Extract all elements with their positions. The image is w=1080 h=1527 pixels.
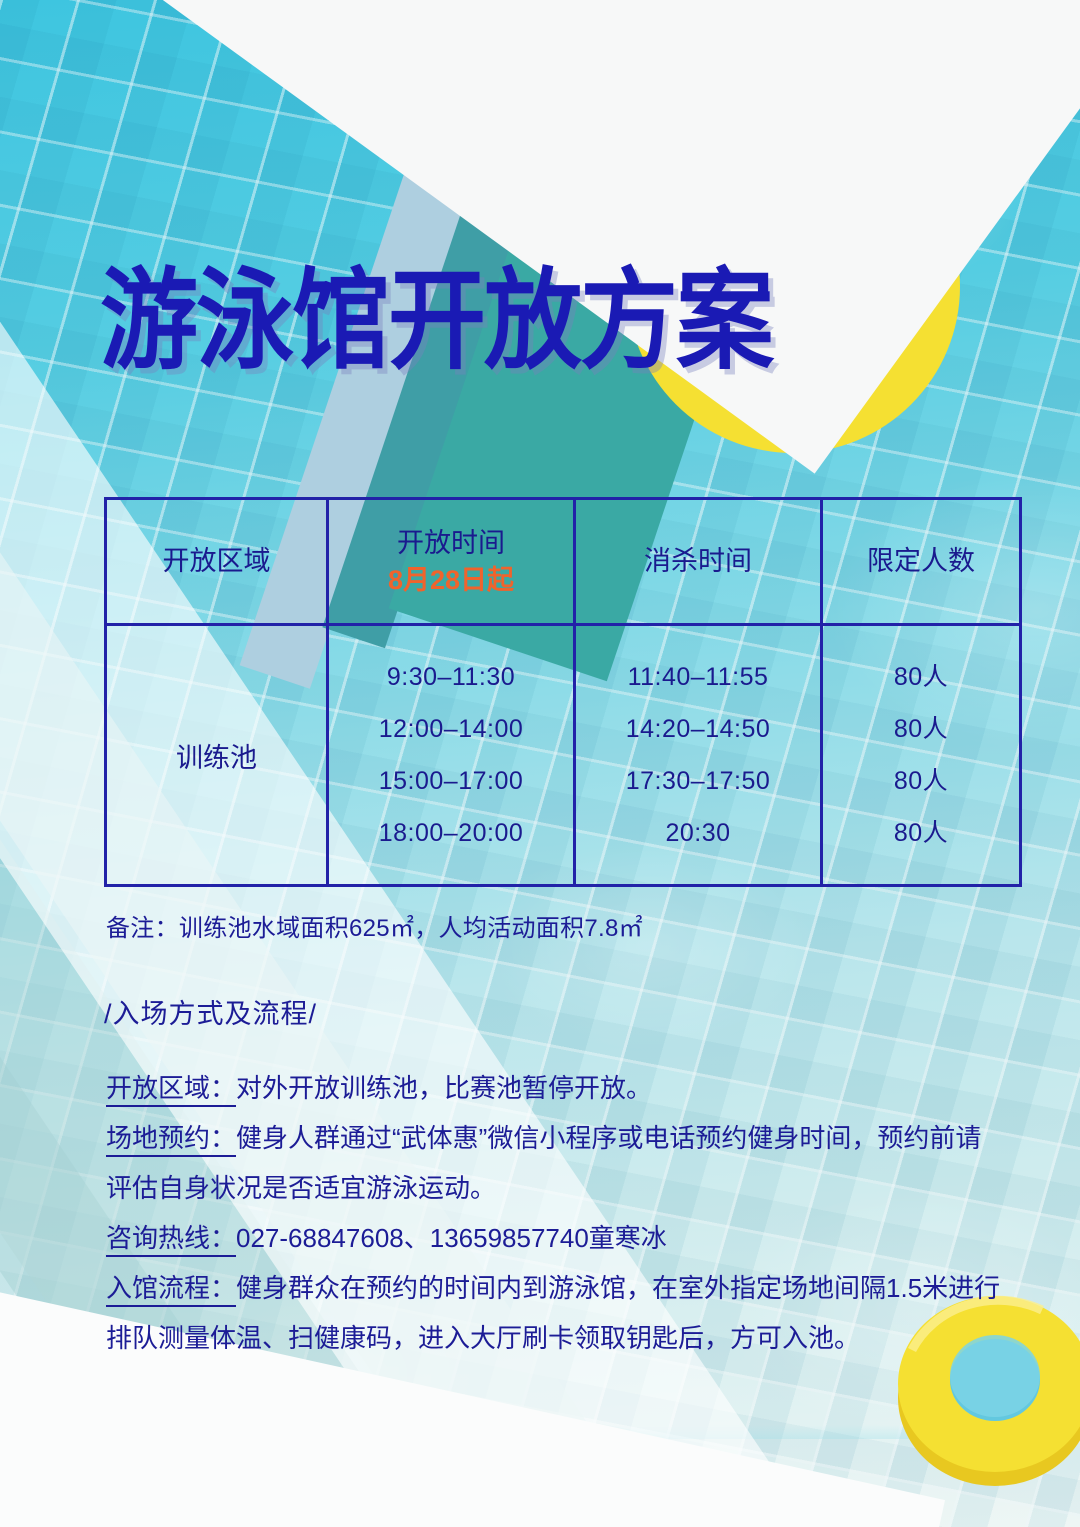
area-name-label: 训练池 <box>107 736 326 775</box>
info-item-open-area: 开放区域：对外开放训练池，比赛池暂停开放。 <box>106 1063 1006 1113</box>
cell-disinfect-times: 11:40–11:55 14:20–14:50 17:30–17:50 20:3… <box>575 625 822 886</box>
capacity-list: 80人 80人 80人 80人 <box>823 626 1019 884</box>
info-label-hotline: 咨询热线： <box>106 1223 236 1257</box>
info-item-hotline: 咨询热线：027-68847608、13659857740童寒冰 <box>106 1213 1006 1263</box>
open-time-slot: 12:00–14:00 <box>329 703 573 755</box>
capacity-value: 80人 <box>823 807 1019 859</box>
disinfect-time-slot: 17:30–17:50 <box>576 755 820 807</box>
open-time-slot: 9:30–11:30 <box>329 651 573 703</box>
info-label-open-area: 开放区域： <box>106 1073 236 1107</box>
info-label-booking: 场地预约： <box>106 1123 236 1157</box>
cell-open-times: 9:30–11:30 12:00–14:00 15:00–17:00 18:00… <box>328 625 575 886</box>
table-header-row: 开放区域 开放时间 8月28日起 消杀时间 限定人数 <box>106 499 1021 625</box>
disinfect-time-slot: 20:30 <box>576 807 820 859</box>
info-text-entry-process: 健身群众在预约的时间内到游泳馆，在室外指定场地间隔1.5米进行排队测量体温、扫健… <box>106 1273 1000 1353</box>
table-header-cell-capacity: 限定人数 <box>822 499 1021 625</box>
table-header-cell-open-time: 开放时间 8月28日起 <box>328 499 575 625</box>
disinfect-time-slot: 14:20–14:50 <box>576 703 820 755</box>
info-text-open-area: 对外开放训练池，比赛池暂停开放。 <box>236 1073 652 1103</box>
header-label-capacity: 限定人数 <box>823 543 1019 579</box>
capacity-value: 80人 <box>823 651 1019 703</box>
open-time-slot: 15:00–17:00 <box>329 755 573 807</box>
capacity-value: 80人 <box>823 755 1019 807</box>
table-header-cell-area: 开放区域 <box>106 499 328 625</box>
info-text-hotline: 027-68847608、13659857740童寒冰 <box>236 1223 667 1253</box>
section-heading: /入场方式及流程/ <box>104 992 317 1031</box>
info-text-booking: 健身人群通过“武体惠”微信小程序或电话预约健身时间，预约前请评估自身状况是否适宜… <box>106 1123 981 1203</box>
cell-capacities: 80人 80人 80人 80人 <box>822 625 1021 886</box>
open-time-list: 9:30–11:30 12:00–14:00 15:00–17:00 18:00… <box>329 626 573 884</box>
schedule-table: 开放区域 开放时间 8月28日起 消杀时间 限定人数 训练池 <box>104 497 1022 887</box>
info-item-booking: 场地预约：健身人群通过“武体惠”微信小程序或电话预约健身时间，预约前请评估自身状… <box>106 1113 1006 1213</box>
page-title: 游泳馆开放方案 <box>100 232 772 391</box>
table-footnote: 备注：训练池水域面积625㎡，人均活动面积7.8㎡ <box>106 908 643 943</box>
header-label-disinfect-time: 消杀时间 <box>576 543 820 579</box>
header-start-date-badge: 8月28日起 <box>329 562 573 598</box>
table-header-cell-disinfect-time: 消杀时间 <box>575 499 822 625</box>
open-time-slot: 18:00–20:00 <box>329 807 573 859</box>
info-item-entry-process: 入馆流程：健身群众在预约的时间内到游泳馆，在室外指定场地间隔1.5米进行排队测量… <box>106 1263 1006 1363</box>
poster-canvas: 游泳馆开放方案 开放区域 开放时间 8月28日起 消杀时间 限定人数 <box>0 0 1080 1527</box>
info-label-entry-process: 入馆流程： <box>106 1273 236 1307</box>
disinfect-time-list: 11:40–11:55 14:20–14:50 17:30–17:50 20:3… <box>576 626 820 884</box>
table-row: 训练池 9:30–11:30 12:00–14:00 15:00–17:00 1… <box>106 625 1021 886</box>
header-label-open-time: 开放时间 <box>329 525 573 561</box>
header-label-area: 开放区域 <box>107 543 326 579</box>
entry-process-text-block: 开放区域：对外开放训练池，比赛池暂停开放。 场地预约：健身人群通过“武体惠”微信… <box>106 1063 1006 1363</box>
disinfect-time-slot: 11:40–11:55 <box>576 651 820 703</box>
capacity-value: 80人 <box>823 703 1019 755</box>
cell-area-name: 训练池 <box>106 625 328 886</box>
